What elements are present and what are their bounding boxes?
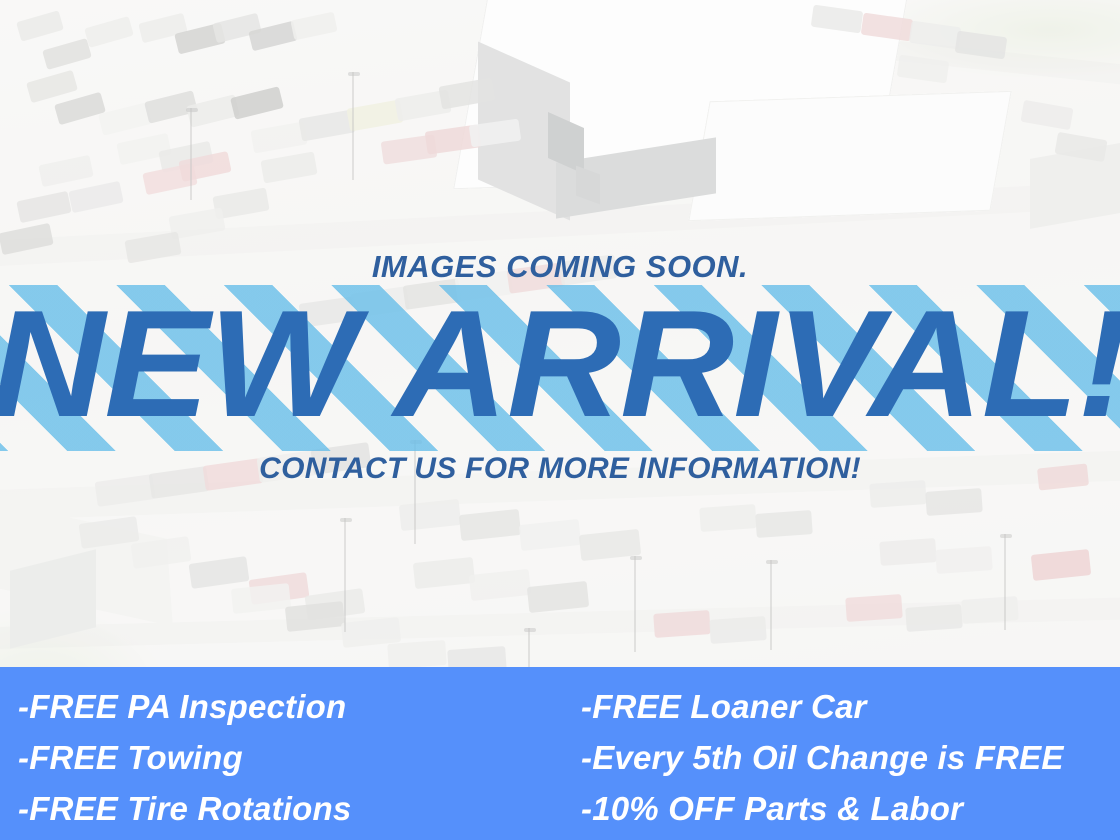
parked-vehicle-red: [1031, 549, 1091, 581]
parked-vehicle: [709, 616, 767, 644]
light-pole: [770, 560, 772, 650]
parked-vehicle: [699, 504, 757, 532]
parked-vehicle-red: [178, 151, 231, 182]
parked-vehicle: [186, 94, 240, 127]
offer-item: -10% OFF Parts & Labor: [581, 783, 1120, 834]
parked-vehicle: [212, 13, 261, 44]
drive-lane: [620, 12, 1120, 88]
parked-vehicle: [260, 151, 317, 183]
drive-lane: [0, 596, 1120, 650]
parked-vehicle: [459, 509, 521, 541]
parked-vehicle: [298, 109, 355, 141]
parked-vehicle: [394, 89, 451, 121]
new-arrival-headline: NEW ARRIVAL!: [0, 288, 1120, 440]
parked-vehicle: [346, 99, 403, 131]
outbuilding-right: [1030, 141, 1120, 229]
parked-vehicle: [469, 119, 522, 148]
offer-item: -FREE Tire Rotations: [18, 783, 573, 834]
parked-vehicle: [755, 510, 813, 538]
placeholder-image: IMAGES COMING SOON. NEW ARRIVAL! CONTACT…: [0, 0, 1120, 840]
parked-vehicle: [38, 155, 93, 187]
parked-vehicle: [925, 488, 983, 516]
offer-item: -Every 5th Oil Change is FREE: [581, 732, 1120, 783]
outbuilding: [10, 549, 96, 648]
parked-vehicle: [399, 499, 461, 531]
parked-vehicle: [955, 31, 1008, 60]
parked-vehicle-red: [845, 594, 903, 622]
parked-vehicle: [961, 596, 1019, 624]
parked-vehicle: [26, 70, 78, 103]
light-pole: [352, 72, 354, 180]
parked-vehicle: [84, 16, 134, 48]
parked-vehicle: [174, 23, 226, 55]
parked-vehicle: [285, 601, 345, 632]
parked-vehicle: [68, 181, 123, 213]
parked-vehicle: [212, 187, 269, 219]
light-pole: [1004, 534, 1006, 630]
parked-vehicle: [935, 546, 993, 574]
light-pole: [344, 518, 346, 632]
parked-vehicle: [250, 121, 307, 153]
warehouse-bay-door: [576, 166, 600, 205]
parked-vehicle: [116, 133, 171, 165]
offer-item: -FREE PA Inspection: [18, 681, 573, 732]
parked-vehicle: [42, 38, 92, 70]
parked-vehicle: [16, 191, 71, 223]
warehouse-bay-door: [548, 112, 584, 174]
parked-vehicle: [341, 617, 401, 648]
parked-vehicle: [158, 141, 213, 173]
offers-column-left: -FREE PA Inspection -FREE Towing -FREE T…: [0, 681, 573, 834]
parked-vehicle-red: [249, 572, 310, 605]
parked-vehicle: [248, 21, 297, 52]
parked-vehicle: [290, 12, 337, 41]
parked-vehicle: [905, 604, 963, 632]
parked-vehicle: [168, 207, 225, 239]
parked-vehicle: [527, 581, 589, 613]
warehouse-roof-section: [688, 91, 1011, 221]
parked-vehicle: [387, 640, 447, 669]
parked-vehicle: [519, 519, 581, 551]
parked-vehicle-red: [425, 124, 482, 154]
parked-vehicle: [231, 583, 291, 614]
parked-vehicle: [811, 5, 864, 34]
parked-vehicle-red: [142, 163, 197, 195]
parked-vehicle: [879, 538, 937, 566]
parked-vehicle: [98, 102, 152, 135]
parked-vehicle: [230, 86, 284, 119]
parked-vehicle: [79, 516, 140, 549]
warehouse-roof: [453, 0, 911, 189]
parked-vehicle: [897, 55, 950, 84]
warehouse-wall-front: [556, 137, 716, 218]
warehouse-wall: [478, 42, 570, 221]
parked-vehicle: [54, 92, 106, 125]
parked-vehicle: [305, 588, 366, 621]
parked-vehicle-red: [861, 13, 914, 42]
parked-vehicle: [469, 569, 531, 601]
contact-us-text: CONTACT US FOR MORE INFORMATION!: [0, 452, 1120, 486]
parked-vehicle: [138, 13, 187, 44]
outbuilding-roof: [0, 500, 173, 626]
parked-vehicle: [438, 77, 495, 109]
parked-vehicle-red: [381, 134, 438, 164]
parked-vehicle: [1054, 132, 1107, 162]
offer-item: -FREE Loaner Car: [581, 681, 1120, 732]
parked-vehicle: [909, 21, 962, 50]
parked-vehicle: [579, 529, 641, 561]
service-offers-banner: -FREE PA Inspection -FREE Towing -FREE T…: [0, 667, 1120, 840]
light-pole: [190, 108, 192, 200]
offers-column-right: -FREE Loaner Car -Every 5th Oil Change i…: [573, 681, 1120, 834]
parked-vehicle: [189, 556, 250, 589]
parked-vehicle: [1020, 100, 1073, 130]
parked-vehicle: [16, 10, 64, 41]
light-pole: [634, 556, 636, 652]
parked-vehicle: [144, 90, 198, 123]
parked-vehicle: [413, 557, 475, 589]
parked-vehicle: [131, 536, 192, 569]
parked-vehicle-red: [653, 610, 711, 638]
offer-item: -FREE Towing: [18, 732, 573, 783]
